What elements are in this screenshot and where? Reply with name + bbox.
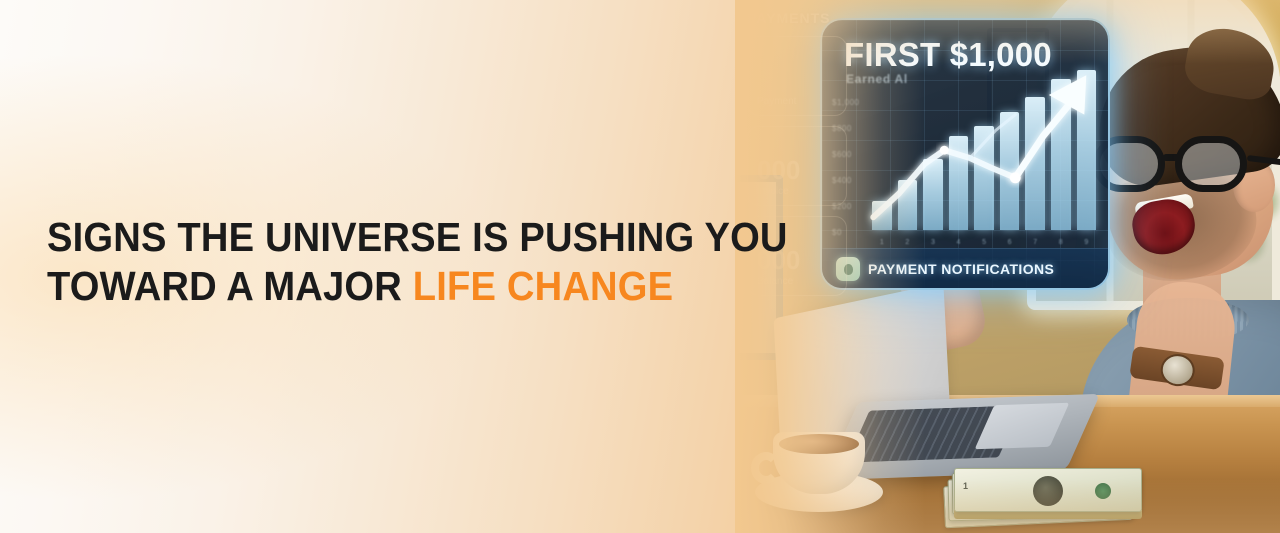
faded-card-value: 000	[757, 157, 837, 183]
faded-card-label: Invoice	[757, 186, 837, 197]
banknote-top: 1	[954, 468, 1142, 512]
faded-panel-heading: PAYMENTS	[747, 10, 847, 26]
payment-notifications-bar[interactable]: PAYMENT NOTIFICATIONS	[822, 248, 1108, 288]
headline-line-2: TOWARD A MAJOR LIFE CHANGE	[47, 262, 689, 311]
glasses-lens-right	[1175, 136, 1247, 192]
banknote-portrait	[1033, 476, 1063, 506]
hero-photo: 1 FIRST $1,000 Earned Al $1,000$800$600$…	[735, 0, 1280, 533]
promo-banner: 1 FIRST $1,000 Earned Al $1,000$800$600$…	[0, 0, 1280, 533]
glasses-temple	[1247, 155, 1280, 167]
coffee-surface	[779, 434, 859, 454]
faded-card-label: Payment	[757, 96, 837, 107]
faded-panel-card: Payment	[747, 36, 847, 116]
banknote-seal	[1095, 483, 1111, 499]
cash-stack: 1	[950, 468, 1142, 524]
headline-line-2-prefix: TOWARD A MAJOR	[47, 263, 413, 309]
faded-panel-card: 000 Invoice	[747, 126, 847, 206]
headline-accent: LIFE CHANGE	[413, 263, 673, 309]
headline-line-1: SIGNS THE UNIVERSE IS PUSHING YOU	[47, 213, 689, 262]
holographic-dashboard[interactable]: FIRST $1,000 Earned Al $1,000$800$600$40…	[820, 18, 1110, 290]
faded-card-label: Balance	[757, 276, 837, 287]
page-title: SIGNS THE UNIVERSE IS PUSHING YOU TOWARD…	[47, 213, 689, 311]
glasses-icon	[1093, 136, 1280, 196]
glasses-bridge	[1163, 154, 1181, 161]
banknote-denomination: 1	[963, 481, 968, 491]
payment-notifications-label: PAYMENT NOTIFICATIONS	[868, 261, 1054, 277]
